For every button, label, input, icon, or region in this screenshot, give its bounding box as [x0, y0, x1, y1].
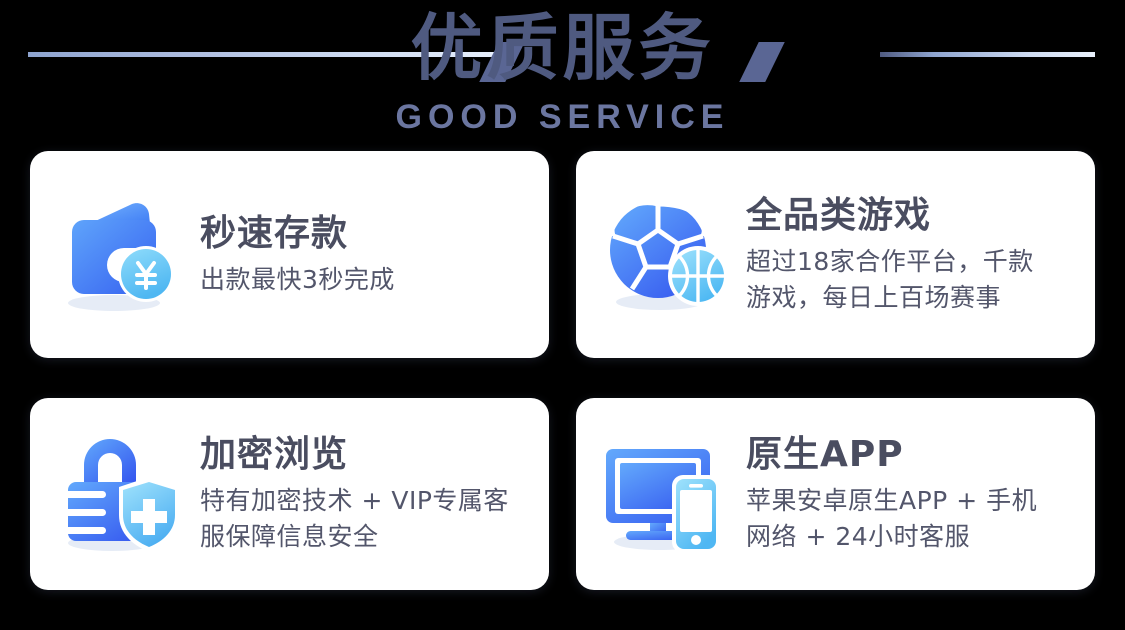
page-title: 优质服务 [0, 6, 1125, 90]
feature-text-encryption: 加密浏览 特有加密技术 + VIP专属客服保障信息安全 [194, 433, 549, 555]
feature-card-encryption[interactable]: 加密浏览 特有加密技术 + VIP专属客服保障信息安全 [30, 398, 549, 590]
wallet-icon [54, 190, 194, 320]
feature-text-deposit: 秒速存款 出款最快3秒完成 [194, 212, 549, 298]
card-title: 加密浏览 [200, 433, 533, 477]
feature-text-native-app: 原生APP 苹果安卓原生APP + 手机网络 + 24小时客服 [740, 433, 1095, 555]
card-subtitle: 特有加密技术 + VIP专属客服保障信息安全 [200, 483, 533, 555]
feature-card-games[interactable]: 全品类游戏 超过18家合作平台，千款游戏，每日上百场赛事 [576, 151, 1095, 358]
page-header: 优质服务 GOOD SERVICE [0, 0, 1125, 146]
page-subtitle: GOOD SERVICE [0, 98, 1125, 136]
card-title: 秒速存款 [200, 212, 533, 256]
soccer-basketball-icon [600, 190, 740, 320]
card-subtitle: 超过18家合作平台，千款游戏，每日上百场赛事 [746, 244, 1079, 316]
feature-card-grid: 秒速存款 出款最快3秒完成 [30, 151, 1095, 591]
card-subtitle: 苹果安卓原生APP + 手机网络 + 24小时客服 [746, 483, 1079, 555]
lock-shield-icon [54, 429, 194, 559]
monitor-phone-icon [600, 429, 740, 559]
header-rule-right [880, 52, 1095, 57]
card-title: 原生APP [746, 433, 1079, 477]
feature-card-native-app[interactable]: 原生APP 苹果安卓原生APP + 手机网络 + 24小时客服 [576, 398, 1095, 590]
card-subtitle: 出款最快3秒完成 [200, 262, 533, 298]
card-title: 全品类游戏 [746, 194, 1079, 238]
feature-text-games: 全品类游戏 超过18家合作平台，千款游戏，每日上百场赛事 [740, 194, 1095, 316]
feature-card-deposit[interactable]: 秒速存款 出款最快3秒完成 [30, 151, 549, 358]
